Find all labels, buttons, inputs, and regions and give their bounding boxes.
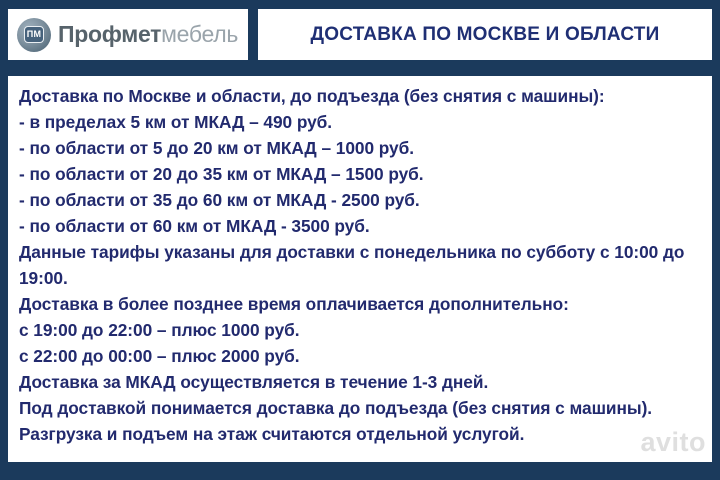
- delivery-terms-body: Доставка по Москве и области, до подъезд…: [8, 76, 712, 462]
- card-header: ПМ Профметмебель ДОСТАВКА ПО МОСКВЕ И ОБ…: [0, 0, 720, 69]
- brand-logo-panel[interactable]: ПМ Профметмебель: [8, 9, 248, 60]
- company-emblem-icon: ПМ: [16, 17, 52, 53]
- terms-paragraph: Под доставкой понимается доставка до под…: [19, 395, 706, 447]
- tariff-line-item: - в пределах 5 км от МКАД – 490 руб.: [19, 109, 706, 135]
- header-separator: [248, 9, 258, 60]
- tariff-line-item: - по области от 35 до 60 км от МКАД - 25…: [19, 187, 706, 213]
- surcharge-line-item: с 19:00 до 22:00 – плюс 1000 руб.: [19, 317, 706, 343]
- header-divider: [0, 69, 720, 74]
- card-bottom-bar: [0, 462, 720, 480]
- emblem-monogram: ПМ: [24, 26, 44, 43]
- brand-wordmark-primary: Профмет: [58, 21, 161, 47]
- surcharge-line-item: с 22:00 до 00:00 – плюс 2000 руб.: [19, 343, 706, 369]
- brand-wordmark-secondary: мебель: [161, 21, 238, 47]
- terms-paragraph: Данные тарифы указаны для доставки с пон…: [19, 239, 706, 291]
- title-panel: ДОСТАВКА ПО МОСКВЕ И ОБЛАСТИ: [258, 9, 712, 60]
- tariff-line-item: - по области от 5 до 20 км от МКАД – 100…: [19, 135, 706, 161]
- delivery-info-card: ПМ Профметмебель ДОСТАВКА ПО МОСКВЕ И ОБ…: [0, 0, 720, 480]
- tariff-line-item: - по области от 20 до 35 км от МКАД – 15…: [19, 161, 706, 187]
- terms-paragraph: Доставка за МКАД осуществляется в течени…: [19, 369, 706, 395]
- page-title: ДОСТАВКА ПО МОСКВЕ И ОБЛАСТИ: [311, 24, 660, 46]
- brand-wordmark: Профметмебель: [58, 23, 238, 46]
- terms-paragraph: Доставка в более позднее время оплачивае…: [19, 291, 706, 317]
- terms-paragraph: Доставка по Москве и области, до подъезд…: [19, 83, 706, 109]
- tariff-line-item: - по области от 60 км от МКАД - 3500 руб…: [19, 213, 706, 239]
